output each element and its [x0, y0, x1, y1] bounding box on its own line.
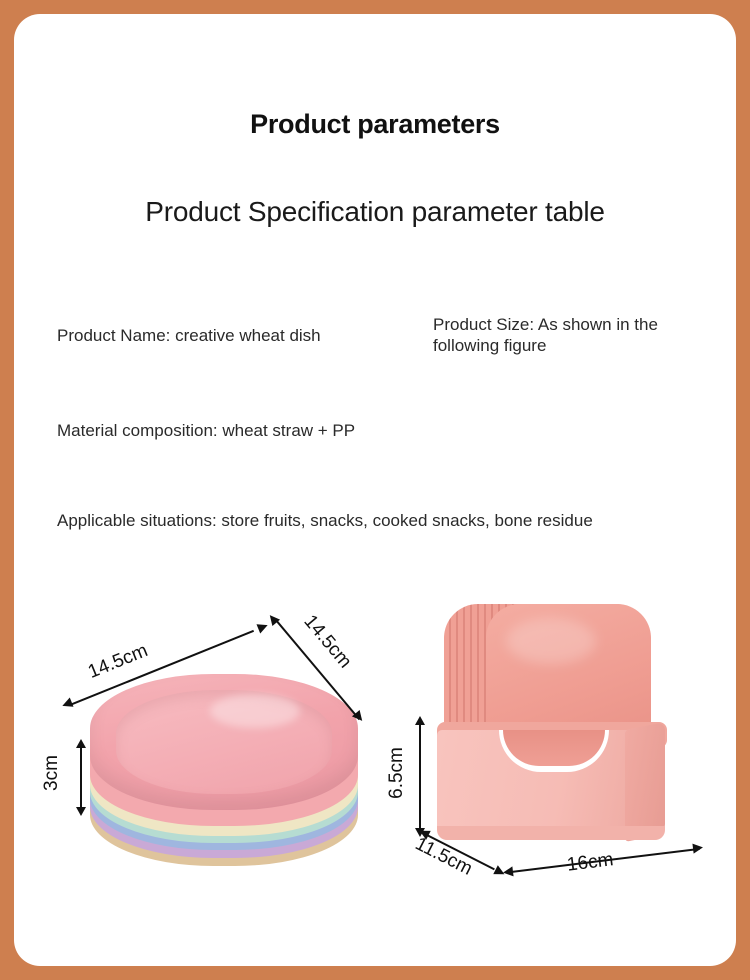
spec-product-name: Product Name: creative wheat dish: [57, 325, 387, 346]
figure-stacked-plates: 14.5cm 14.5cm 3cm: [32, 589, 402, 909]
dimension-line: [80, 747, 82, 809]
arrowhead-down-icon: [76, 807, 86, 816]
holder-side-panel: [625, 722, 665, 842]
arrowhead-up-icon: [76, 739, 86, 748]
plate-highlight: [210, 694, 300, 728]
product-spec-card: Product parameters Product Specification…: [14, 14, 736, 966]
spec-applicable-situations: Applicable situations: store fruits, sna…: [57, 510, 657, 531]
arrowhead-left-icon: [502, 866, 513, 877]
dimension-line: [419, 724, 421, 830]
plate-stack-image: [90, 674, 360, 849]
page-subtitle: Product Specification parameter table: [14, 196, 736, 228]
spec-product-size: Product Size: As shown in the following …: [433, 314, 703, 357]
arrowhead-right-icon: [256, 620, 269, 633]
arrowhead-left-icon: [60, 697, 73, 710]
arrowhead-up-icon: [415, 716, 425, 725]
figure-plate-holder: 6.5cm 11.5cm 16cm: [399, 584, 729, 904]
holder-image: [429, 604, 689, 859]
arrowhead-right-icon: [692, 842, 703, 853]
page-title: Product parameters: [14, 109, 736, 140]
dimension-label: 6.5cm: [386, 747, 408, 799]
plate-top-pink: [90, 674, 358, 810]
dimension-label: 14.5cm: [299, 611, 356, 673]
holder-base: [437, 826, 665, 840]
dimension-label: 3cm: [41, 755, 63, 791]
dimension-label: 16cm: [566, 849, 615, 876]
holder-plate-highlight: [506, 618, 596, 664]
spec-material-composition: Material composition: wheat straw + PP: [57, 420, 457, 441]
